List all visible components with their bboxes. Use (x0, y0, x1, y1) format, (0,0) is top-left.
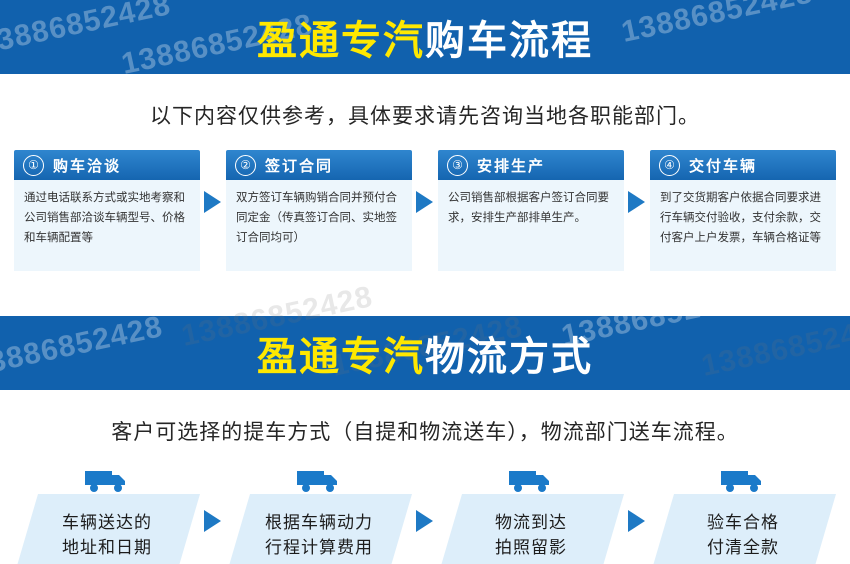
step-card: ② 签订合同 双方签订车辆购销合同并预付合同定金（传真签订合同、实地签订合同均可… (226, 150, 412, 271)
truck-icon (14, 466, 200, 494)
section1-banner-rest: 购车流程 (425, 19, 593, 63)
logistics-card: 验车合格 付清全款 (650, 466, 836, 564)
step-body: 到了交货期客户依据合同要求进行车辆交付验收，支付余款，交付客户上户发票，车辆合格… (650, 180, 836, 271)
arrow-right-icon (412, 466, 438, 564)
step-body: 通过电话联系方式或实地考察和公司销售部洽谈车辆型号、价格和车辆配置等 (14, 180, 200, 271)
step-body: 双方签订车辆购销合同并预付合同定金（传真签订合同、实地签订合同均可） (226, 180, 412, 271)
step-number: ① (23, 155, 44, 176)
logistics-card: 根据车辆动力 行程计算费用 (226, 466, 412, 564)
step-number: ③ (447, 155, 468, 176)
section2-subtitle: 客户可选择的提车方式（自提和物流送车），物流部门送车流程。 (0, 390, 850, 466)
section1-banner-highlight: 盈通专汽 (257, 19, 425, 63)
step-title: 交付车辆 (689, 155, 757, 176)
step-header: ② 签订合同 (226, 150, 412, 180)
section1-banner-title: 盈通专汽购车流程 (257, 8, 593, 66)
logistics-line2: 拍照留影 (495, 535, 567, 561)
truck-icon (438, 466, 624, 494)
logistics-line1: 车辆送达的 (62, 510, 152, 536)
section1-subtitle: 以下内容仅供参考，具体要求请先咨询当地各职能部门。 (0, 74, 850, 150)
logistics-card: 物流到达 拍照留影 (438, 466, 624, 564)
section2-banner-highlight: 盈通专汽 (257, 335, 425, 379)
step-card: ③ 安排生产 公司销售部根据客户签订合同要求，安排生产部排单生产。 (438, 150, 624, 271)
step-card: ④ 交付车辆 到了交货期客户依据合同要求进行车辆交付验收，支付余款，交付客户上户… (650, 150, 836, 271)
logistics-line1: 根据车辆动力 (265, 510, 373, 536)
step-number: ② (235, 155, 256, 176)
logistics-line2: 地址和日期 (62, 535, 152, 561)
step-header: ① 购车洽谈 (14, 150, 200, 180)
logistics-line1: 物流到达 (495, 510, 567, 536)
step-header: ③ 安排生产 (438, 150, 624, 180)
arrow-right-icon (624, 466, 650, 564)
logistics-box: 验车合格 付清全款 (650, 494, 836, 564)
step-number: ④ (659, 155, 680, 176)
logistics-card: 车辆送达的 地址和日期 (14, 466, 200, 564)
arrow-right-icon (412, 150, 438, 254)
step-title: 购车洽谈 (53, 155, 121, 176)
logistics-box: 车辆送达的 地址和日期 (14, 494, 200, 564)
arrow-right-icon (200, 466, 226, 564)
logistics-line2: 付清全款 (707, 535, 779, 561)
step-title: 安排生产 (477, 155, 545, 176)
logistics-line1: 验车合格 (707, 510, 779, 536)
section2-banner-rest: 物流方式 (425, 335, 593, 379)
section1-banner: 盈通专汽购车流程 (0, 0, 850, 74)
page-root: 盈通专汽购车流程 以下内容仅供参考，具体要求请先咨询当地各职能部门。 ① 购车洽… (0, 0, 850, 564)
step-title: 签订合同 (265, 155, 333, 176)
step-body: 公司销售部根据客户签订合同要求，安排生产部排单生产。 (438, 180, 624, 271)
step-header: ④ 交付车辆 (650, 150, 836, 180)
logistics-box: 物流到达 拍照留影 (438, 494, 624, 564)
truck-icon (226, 466, 412, 494)
logistics-box: 根据车辆动力 行程计算费用 (226, 494, 412, 564)
section2-banner: 盈通专汽物流方式 (0, 316, 850, 390)
section2-banner-title: 盈通专汽物流方式 (257, 324, 593, 382)
logistics-cards: 车辆送达的 地址和日期 根据车辆动力 行程计算费用 (0, 466, 850, 564)
purchase-steps: ① 购车洽谈 通过电话联系方式或实地考察和公司销售部洽谈车辆型号、价格和车辆配置… (0, 150, 850, 271)
logistics-line2: 行程计算费用 (265, 535, 373, 561)
arrow-right-icon (200, 150, 226, 254)
arrow-right-icon (624, 150, 650, 254)
truck-icon (650, 466, 836, 494)
step-card: ① 购车洽谈 通过电话联系方式或实地考察和公司销售部洽谈车辆型号、价格和车辆配置… (14, 150, 200, 271)
